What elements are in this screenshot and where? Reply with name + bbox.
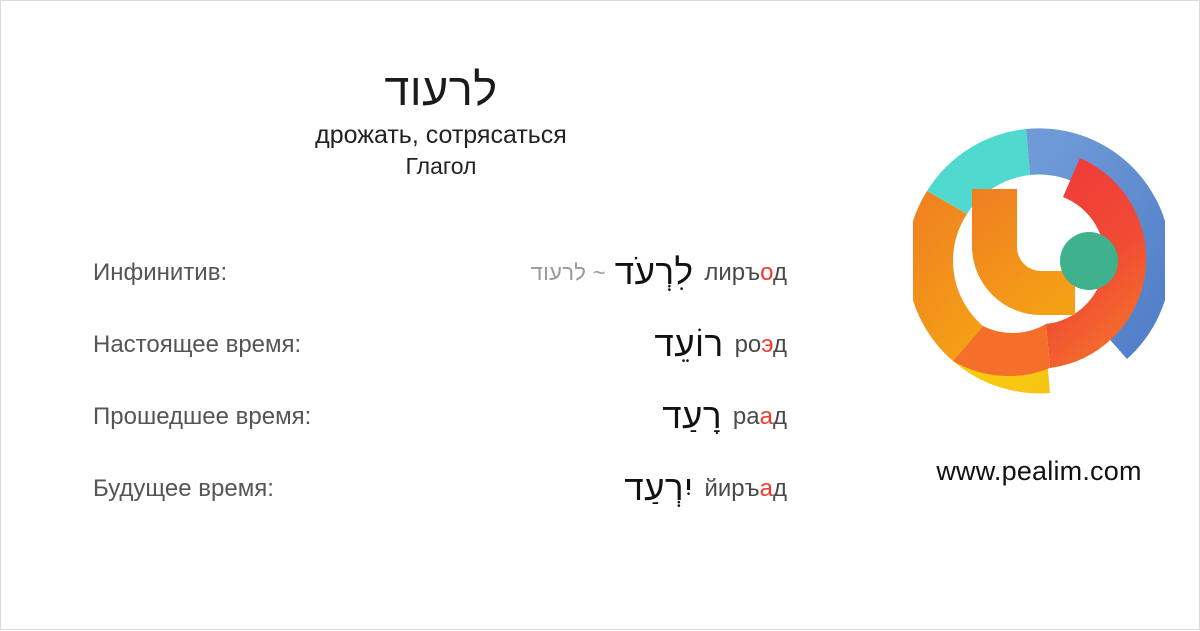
hebrew-form: רָעַד (662, 397, 722, 437)
transliteration: роэд (735, 331, 787, 359)
translit-stressed-vowel: а (760, 475, 773, 502)
logo-inner-hook (972, 189, 1075, 315)
translit-before: ро (735, 331, 762, 358)
table-row: Настоящее время: רוֹעֵדроэд (1, 309, 881, 381)
translit-after: д (773, 331, 787, 358)
verb-card: לרעוד дрожать, сотрясаться Глагол Инфини… (0, 0, 1200, 630)
table-row: Будущее время: יִרְעַדйиръад (1, 453, 881, 525)
hebrew-form: לִרְעֹד (615, 253, 694, 293)
pealim-logo (913, 113, 1165, 409)
site-url: www.pealim.com (879, 456, 1199, 487)
row-value-past: רָעַדраад (1, 397, 787, 437)
row-value-present: רוֹעֵדроэд (1, 325, 787, 365)
transliteration: йиръад (704, 475, 787, 503)
translit-after: д (773, 475, 787, 502)
part-of-speech: Глагол (1, 152, 881, 181)
translit-stressed-vowel: а (760, 403, 773, 430)
card-header: לרעוד дрожать, сотрясаться Глагол (1, 63, 881, 181)
row-value-future: יִרְעַדйиръад (1, 469, 787, 509)
translit-stressed-vowel: о (760, 259, 773, 286)
transliteration: раад (733, 403, 787, 431)
translit-after: д (773, 403, 787, 430)
translit-before: ра (733, 403, 760, 430)
logo-green-dot (1060, 232, 1118, 290)
table-row: Инфинитив: ~ לרעודלִרְעֹדлиръод (1, 237, 881, 309)
headword-hebrew: לרעוד (1, 63, 881, 116)
translit-after: д (773, 259, 787, 286)
brand-area: www.pealim.com (879, 1, 1199, 631)
headword-translation: дрожать, сотрясаться (1, 120, 881, 151)
translit-stressed-vowel: э (761, 331, 773, 358)
conjugation-table: Инфинитив: ~ לרעודלִרְעֹדлиръод Настояще… (1, 237, 881, 525)
transliteration: лиръод (704, 259, 787, 287)
alt-spelling: ~ לרעוד (531, 260, 606, 286)
row-value-infinitive: ~ לרעודלִרְעֹדлиръод (1, 253, 787, 293)
hebrew-form: רוֹעֵד (654, 325, 723, 365)
translit-before: йиръ (704, 475, 759, 502)
translit-before: лиръ (704, 259, 760, 286)
hebrew-form: יִרְעַד (624, 469, 693, 509)
table-row: Прошедшее время: רָעַדраад (1, 381, 881, 453)
